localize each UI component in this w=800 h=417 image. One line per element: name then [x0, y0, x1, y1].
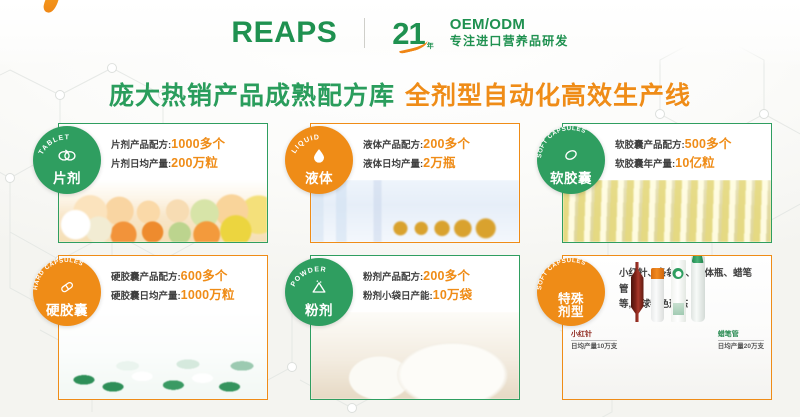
powder-scoop-icon — [285, 278, 353, 296]
stat-value: 1000多个 — [171, 137, 225, 151]
years-unit: 年 — [427, 43, 433, 50]
stat-label: 软胶囊产品配方: — [615, 140, 685, 151]
stat-value: 200多个 — [423, 137, 470, 151]
logo-wordmark: REAPS — [231, 16, 337, 50]
stat-label: 软胶囊年产量: — [615, 159, 675, 170]
water-drop-icon — [285, 146, 353, 164]
badge-soft-capsules[interactable]: SOFT CAPSULES 软胶囊 — [537, 126, 605, 194]
brand-header: REAPS 21 年 OEM/ODM 专注进口营养品研发 — [0, 0, 800, 66]
stat-row: 片剂产品配方:1000多个 — [111, 135, 259, 154]
badge-cn-line1: 特殊 — [558, 293, 584, 306]
page-title: 庞大热销产品成熟配方库全剂型自动化高效生产线 — [0, 76, 800, 112]
green-crayon-tube-product — [691, 256, 704, 322]
stat-value: 500多个 — [685, 137, 732, 151]
stat-value: 200多个 — [423, 269, 470, 283]
badge-special-forms[interactable]: SOFT CAPSULES 特殊 剂型 — [537, 258, 605, 326]
left-product-name: 小红针 — [571, 330, 617, 340]
badge-chinese-label: 粉剂 — [305, 304, 333, 318]
header-divider — [364, 18, 365, 48]
oem-tagline: OEM/ODM 专注进口营养品研发 — [450, 17, 569, 49]
stat-row: 软胶囊产品配方:500多个 — [615, 135, 763, 154]
oem-title: OEM/ODM — [450, 17, 569, 34]
stat-label: 液体日均产量: — [363, 159, 423, 170]
card-hard-capsules[interactable]: 硬胶囊产品配方:600多个 硬胶囊日均产量:1000万粒 HARD CAPSUL… — [58, 255, 268, 400]
badge-chinese-label: 片剂 — [53, 172, 81, 186]
card-powder[interactable]: 粉剂产品配方:200多个 粉剂小袋日产能:10万袋 POWDER 粉剂 — [310, 255, 520, 400]
leaf-icon — [42, 0, 60, 14]
stat-label: 硬胶囊日均产量: — [111, 291, 181, 302]
tablet-pill-icon — [33, 146, 101, 164]
stat-row: 液体日均产量:2万瓶 — [363, 154, 511, 173]
stat-label: 片剂产品配方: — [111, 140, 171, 151]
stat-row: 片剂日均产量:200万粒 — [111, 154, 259, 173]
stat-label: 液体产品配方: — [363, 140, 423, 151]
stat-label: 硬胶囊产品配方: — [111, 272, 181, 283]
badge-hard-capsules[interactable]: HARD CAPSULES 硬胶囊 — [33, 258, 101, 326]
stat-row: 硬胶囊产品配方:600多个 — [111, 267, 259, 286]
card-special-forms[interactable]: 小红针、条袋饮、液体瓶、蜡笔管 等,全球特色形态 小红针 日均产量10万支 蜡笔… — [562, 255, 772, 400]
badge-powder[interactable]: POWDER 粉剂 — [285, 258, 353, 326]
stat-label: 粉剂产品配方: — [363, 272, 423, 283]
badge-chinese-label: 液体 — [305, 172, 333, 186]
green-white-capsules-photo — [59, 312, 267, 399]
colorful-tablets-photo — [59, 180, 267, 242]
powder-scoop-photo — [311, 312, 519, 399]
right-product-yield: 日均产量20万支 — [718, 340, 764, 351]
orange-cap-vial-product — [651, 268, 664, 322]
badge-chinese-label: 硬胶囊 — [46, 304, 88, 318]
stat-value: 1000万粒 — [181, 288, 235, 302]
stat-row: 硬胶囊日均产量:1000万粒 — [111, 286, 259, 305]
stat-row: 粉剂产品配方:200多个 — [363, 267, 511, 286]
reaps-logo[interactable]: REAPS — [231, 16, 337, 50]
oem-subtitle: 专注进口营养品研发 — [450, 34, 569, 49]
right-product-name: 蜡笔管 — [718, 330, 764, 340]
badge-en-text: SOFT CAPSULES — [536, 257, 587, 291]
softgel-icon — [537, 146, 605, 164]
years-badge: 21 年 — [392, 18, 427, 49]
stat-value: 10万袋 — [433, 288, 473, 302]
card-soft-capsules[interactable]: 软胶囊产品配方:500多个 软胶囊年产量:10亿粒 SOFT CAPSULES … — [562, 123, 772, 243]
badge-chinese-label: 特殊 剂型 — [558, 293, 584, 320]
stat-value: 200万粒 — [171, 156, 218, 170]
stat-value: 2万瓶 — [423, 156, 456, 170]
stat-row: 粉剂小袋日产能:10万袋 — [363, 286, 511, 305]
stick-sachet-product — [671, 260, 684, 322]
headline-orange: 全剂型自动化高效生产线 — [405, 82, 691, 110]
stat-label: 片剂日均产量: — [111, 159, 171, 170]
badge-liquid[interactable]: LIQUID 液体 — [285, 126, 353, 194]
left-product-yield: 日均产量10万支 — [571, 340, 617, 351]
stat-row: 软胶囊年产量:10亿粒 — [615, 154, 763, 173]
card-liquid[interactable]: 液体产品配方:200多个 液体日均产量:2万瓶 LIQUID 液体 — [310, 123, 520, 243]
hard-capsule-icon — [33, 278, 101, 296]
svg-text:SOFT CAPSULES: SOFT CAPSULES — [536, 257, 587, 291]
headline-green: 庞大热销产品成熟配方库 — [109, 82, 395, 110]
stat-label: 粉剂小袋日产能: — [363, 291, 433, 302]
badge-cn-line2: 剂型 — [558, 306, 584, 319]
red-ampoule-product — [631, 262, 644, 322]
dosage-form-card-grid: 片剂产品配方:1000多个 片剂日均产量:200万粒 TABLET 片剂 — [32, 123, 772, 400]
stat-value: 600多个 — [181, 269, 228, 283]
stat-row: 液体产品配方:200多个 — [363, 135, 511, 154]
liquid-filling-line-photo — [311, 180, 519, 242]
right-product-label: 蜡笔管 日均产量20万支 — [718, 330, 764, 351]
badge-tablet[interactable]: TABLET 片剂 — [33, 126, 101, 194]
left-product-label: 小红针 日均产量10万支 — [571, 330, 617, 351]
golden-softgels-photo — [563, 180, 771, 242]
stat-value: 10亿粒 — [675, 156, 715, 170]
card-tablet[interactable]: 片剂产品配方:1000多个 片剂日均产量:200万粒 TABLET 片剂 — [58, 123, 268, 243]
badge-english-arc: SOFT CAPSULES — [537, 261, 605, 291]
badge-chinese-label: 软胶囊 — [550, 172, 592, 186]
